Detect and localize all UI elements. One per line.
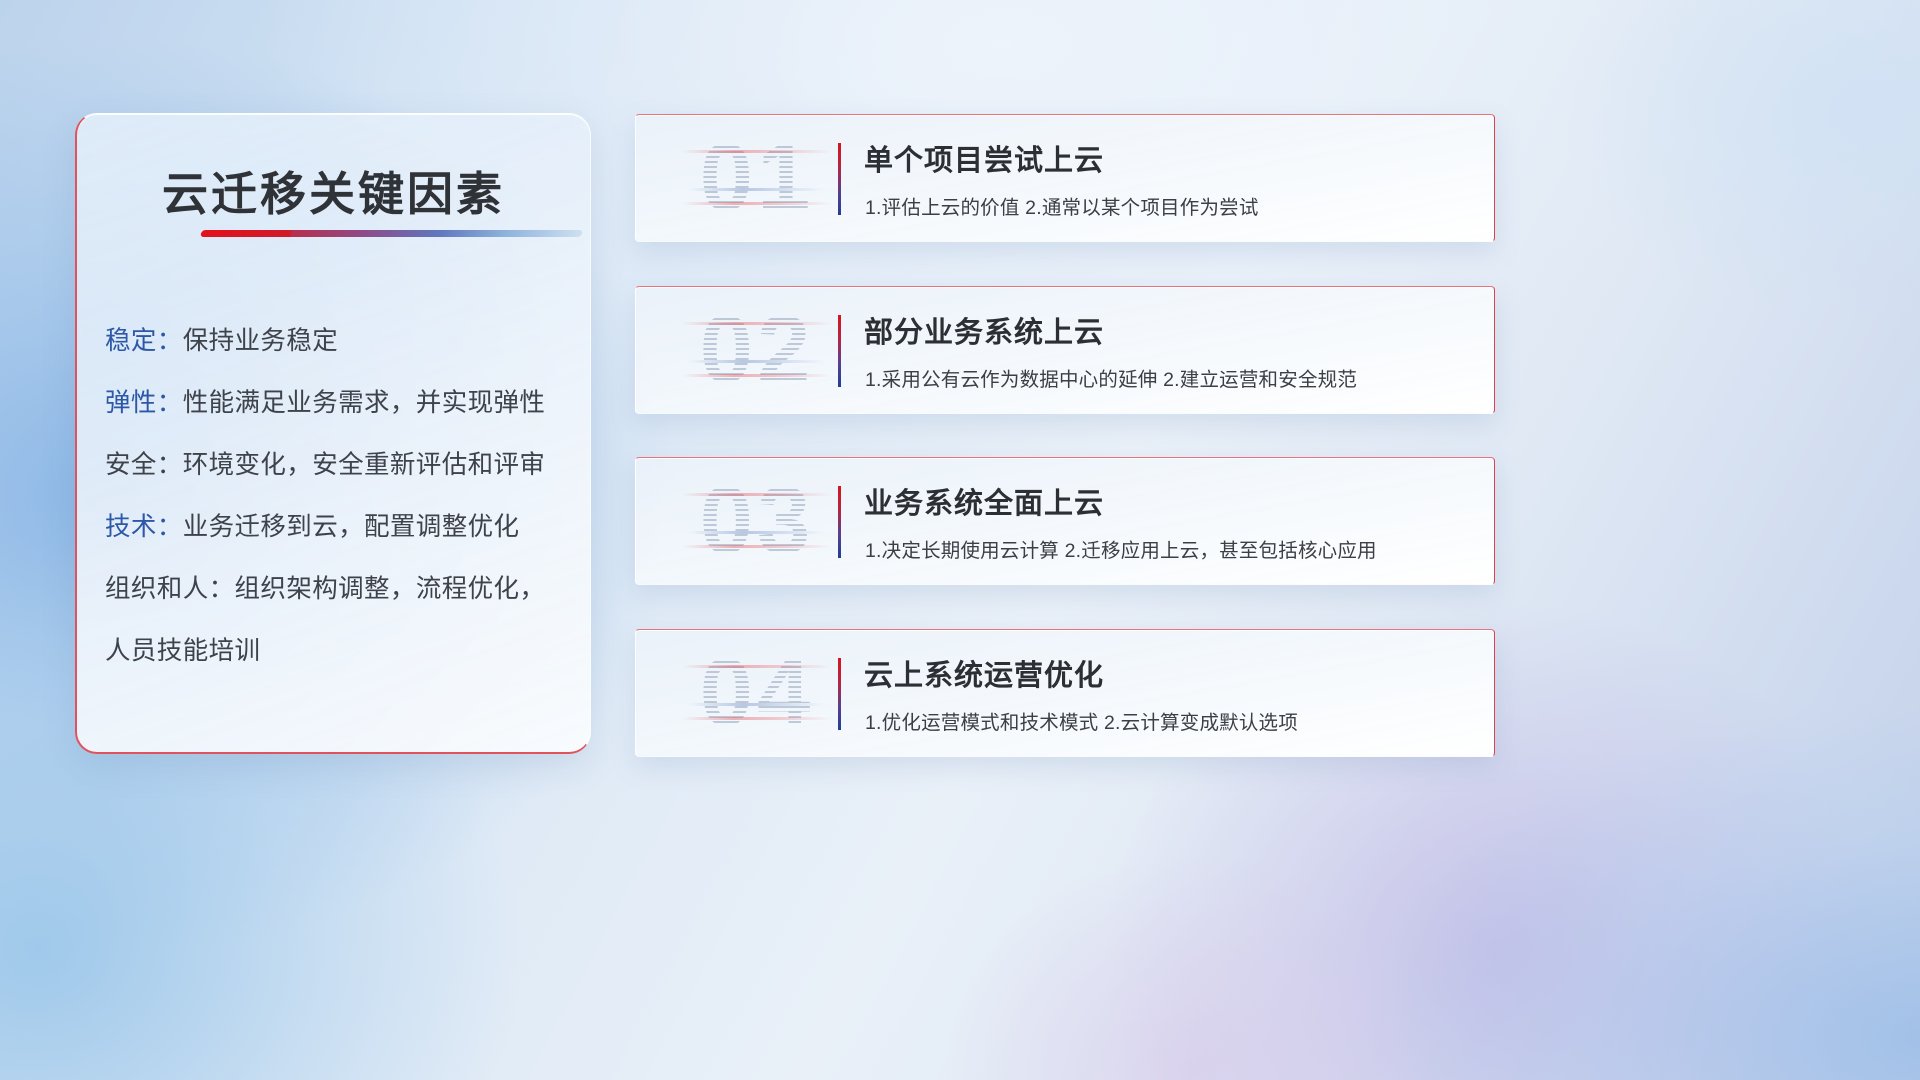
- stage-number-03: 03: [672, 469, 842, 573]
- list-item-key: 稳定：: [105, 327, 183, 355]
- list-item-text: 保持业务稳定: [183, 327, 338, 355]
- list-item: 安全：环境变化，安全重新评估和评审: [105, 434, 564, 496]
- title-underline-accent: [201, 230, 583, 237]
- card-title: 部分业务系统上云: [864, 309, 1104, 351]
- list-item-text: 性能满足业务需求，并实现弹性: [183, 389, 546, 417]
- list-item-key: 弹性：: [105, 389, 183, 417]
- stage-card-03[interactable]: 03 业务系统全面上云 1.决定长期使用云计算 2.迁移应用上云，甚至包括核心应…: [635, 457, 1495, 585]
- stage-number-02: 02: [672, 298, 842, 402]
- card-title: 云上系统运营优化: [864, 652, 1104, 694]
- list-item: 技术：业务迁移到云，配置调整优化: [105, 496, 564, 558]
- card-body: 1.评估上云的价值 2.通常以某个项目作为尝试: [865, 191, 1259, 220]
- card-accent-bar: [838, 486, 841, 558]
- card-accent-bar: [838, 143, 841, 215]
- stage-card-02[interactable]: 02 部分业务系统上云 1.采用公有云作为数据中心的延伸 2.建立运营和安全规范: [635, 286, 1495, 414]
- stage-card-04[interactable]: 04 云上系统运营优化 1.优化运营模式和技术模式 2.云计算变成默认选项: [635, 629, 1495, 757]
- card-body: 1.决定长期使用云计算 2.迁移应用上云，甚至包括核心应用: [865, 534, 1377, 563]
- list-item: 组织和人：组织架构调整，流程优化，: [105, 558, 564, 620]
- stage-card-01[interactable]: 01 单个项目尝试上云 1.评估上云的价值 2.通常以某个项目作为尝试: [635, 114, 1495, 242]
- card-title: 业务系统全面上云: [864, 480, 1104, 522]
- key-factors-panel: 云迁移关键因素 稳定：保持业务稳定 弹性：性能满足业务需求，并实现弹性 安全：环…: [75, 113, 591, 754]
- card-title: 单个项目尝试上云: [864, 137, 1104, 179]
- page-title: 云迁移关键因素: [77, 158, 590, 224]
- list-item-continuation: 人员技能培训: [105, 620, 564, 682]
- stage-number-04: 04: [672, 641, 842, 745]
- list-item-text: 环境变化，安全重新评估和评审: [183, 451, 546, 479]
- card-body: 1.采用公有云作为数据中心的延伸 2.建立运营和安全规范: [865, 363, 1357, 392]
- card-body: 1.优化运营模式和技术模式 2.云计算变成默认选项: [865, 706, 1298, 735]
- list-item-text: 组织架构调整，流程优化，: [235, 575, 546, 603]
- list-item-text: 业务迁移到云，配置调整优化: [183, 513, 520, 541]
- list-item-text: 人员技能培训: [105, 637, 260, 665]
- list-item-key: 技术：: [105, 513, 183, 541]
- list-item: 稳定：保持业务稳定: [105, 310, 564, 372]
- card-accent-bar: [838, 658, 841, 730]
- key-factors-list: 稳定：保持业务稳定 弹性：性能满足业务需求，并实现弹性 安全：环境变化，安全重新…: [105, 310, 564, 682]
- list-item-key: 组织和人：: [105, 575, 235, 603]
- list-item-key: 安全：: [105, 451, 183, 479]
- list-item: 弹性：性能满足业务需求，并实现弹性: [105, 372, 564, 434]
- stage-number-01: 01: [672, 126, 842, 230]
- card-accent-bar: [838, 315, 841, 387]
